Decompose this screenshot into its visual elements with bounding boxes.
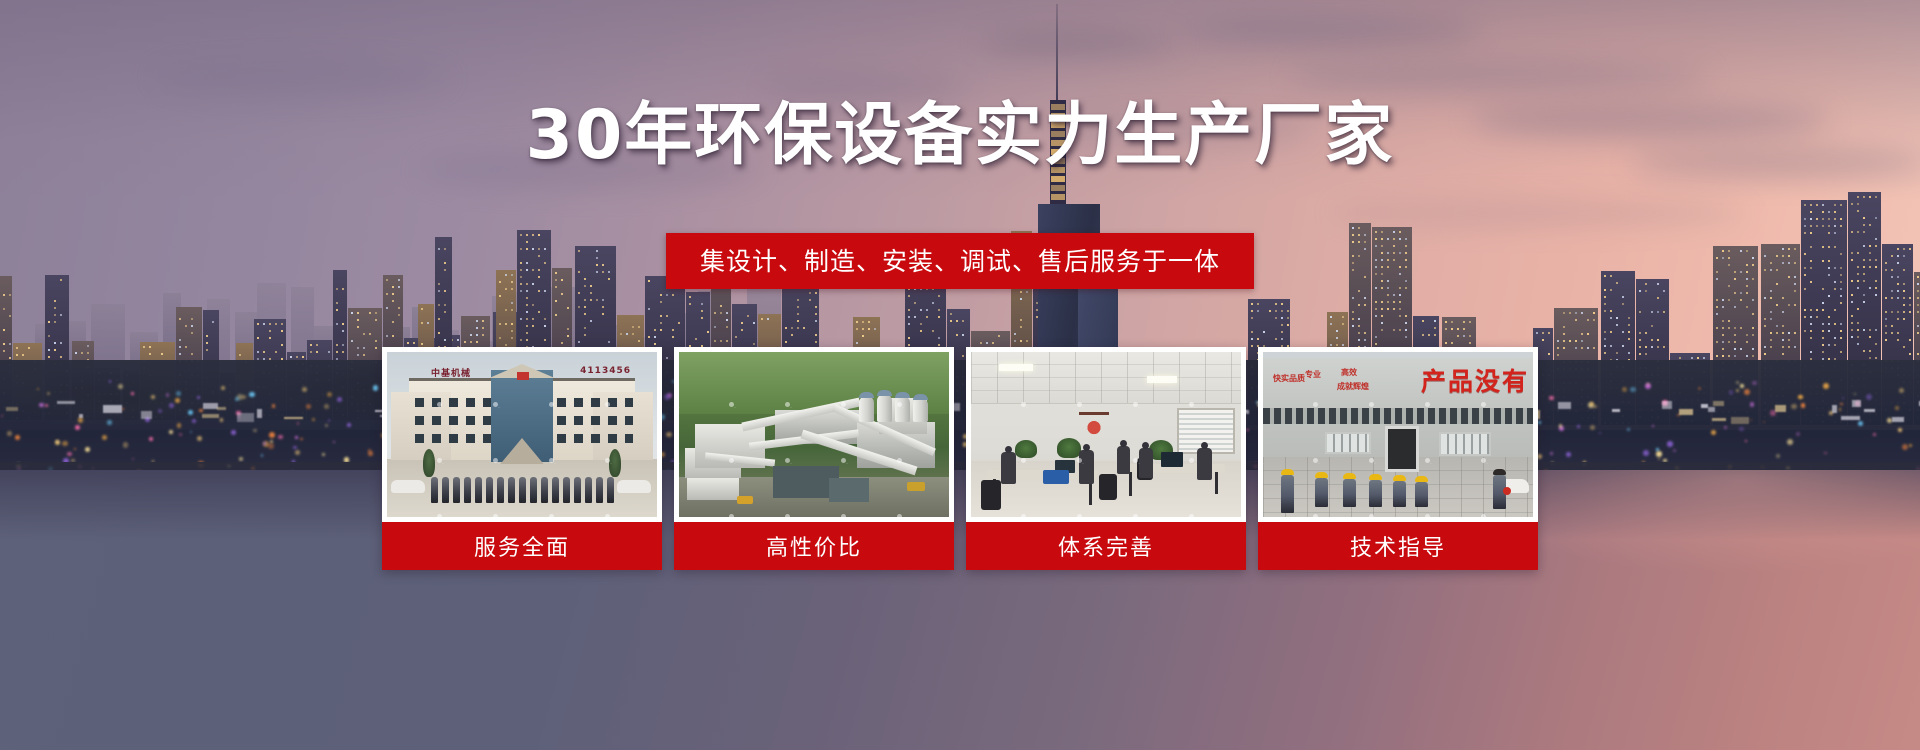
window-light bbox=[3, 343, 5, 345]
worker bbox=[1393, 475, 1406, 507]
riverside-building-light bbox=[79, 414, 83, 418]
window-light bbox=[1740, 250, 1742, 252]
window-light bbox=[438, 318, 440, 320]
window-light bbox=[1834, 204, 1836, 206]
window-light bbox=[48, 356, 50, 358]
park-light bbox=[1752, 381, 1757, 386]
crown-light-band bbox=[1051, 176, 1065, 182]
window-light bbox=[1651, 346, 1653, 348]
window-light bbox=[392, 335, 394, 337]
worker bbox=[1415, 476, 1428, 507]
park-light bbox=[37, 388, 39, 390]
window-light bbox=[1822, 309, 1824, 311]
window-light bbox=[1381, 238, 1383, 240]
window-light bbox=[1764, 318, 1766, 320]
window-light bbox=[1740, 292, 1742, 294]
window-light bbox=[1794, 304, 1796, 306]
window-light bbox=[499, 323, 501, 325]
window-light bbox=[1251, 331, 1253, 333]
window-light bbox=[1851, 315, 1853, 317]
window-light bbox=[726, 319, 728, 321]
card-photo-workers-factory: 产品没有 快实品质 专业 高效 成就辉煌 bbox=[1263, 352, 1533, 517]
window-light bbox=[1840, 323, 1842, 325]
window-light bbox=[1770, 269, 1772, 271]
window-light bbox=[1822, 260, 1824, 262]
worker bbox=[1315, 472, 1328, 507]
window-light bbox=[785, 341, 787, 343]
window-light bbox=[797, 327, 799, 329]
window-light bbox=[511, 337, 513, 339]
park-light bbox=[1909, 444, 1912, 447]
window-light bbox=[60, 314, 62, 316]
window-light bbox=[1405, 238, 1407, 240]
window-light bbox=[1810, 351, 1812, 353]
window-light bbox=[1863, 217, 1865, 219]
park-light bbox=[328, 419, 331, 422]
park-light bbox=[1622, 387, 1627, 392]
park-light bbox=[1842, 397, 1844, 399]
window-light bbox=[1804, 288, 1806, 290]
window-light bbox=[1622, 331, 1624, 333]
window-light bbox=[1840, 225, 1842, 227]
window-light bbox=[342, 330, 344, 332]
window-light bbox=[1869, 329, 1871, 331]
window-light bbox=[914, 302, 916, 304]
window-light bbox=[1822, 288, 1824, 290]
park-light bbox=[322, 453, 325, 456]
park-light bbox=[1590, 425, 1595, 430]
card-caption: 服务全面 bbox=[382, 522, 662, 570]
window-light bbox=[1804, 267, 1806, 269]
window-light bbox=[191, 318, 193, 320]
window-light bbox=[357, 312, 359, 314]
window-light bbox=[1885, 297, 1887, 299]
window-light bbox=[1358, 241, 1360, 243]
park-light bbox=[261, 454, 264, 457]
window-light bbox=[908, 316, 910, 318]
window-light bbox=[1387, 287, 1389, 289]
window-light bbox=[1788, 346, 1790, 348]
window-light bbox=[386, 335, 388, 337]
window-row bbox=[415, 398, 491, 407]
window-light bbox=[720, 340, 722, 342]
park-light bbox=[324, 404, 329, 409]
window-light bbox=[1275, 303, 1277, 305]
window-light bbox=[179, 353, 181, 355]
window-light bbox=[392, 300, 394, 302]
window-light bbox=[544, 262, 546, 264]
window-light bbox=[398, 307, 400, 309]
window-light bbox=[714, 340, 716, 342]
park-light bbox=[62, 441, 67, 446]
feature-card[interactable]: 体系完善 bbox=[966, 347, 1246, 570]
window-light bbox=[1381, 287, 1383, 289]
window-light bbox=[1822, 204, 1824, 206]
card-photo-office-interior bbox=[971, 352, 1241, 517]
window-light bbox=[1581, 312, 1583, 314]
window-light bbox=[398, 286, 400, 288]
window-light bbox=[1393, 294, 1395, 296]
window-light bbox=[1828, 344, 1830, 346]
window-light bbox=[992, 342, 994, 344]
window-light bbox=[1752, 355, 1754, 357]
window-light bbox=[1770, 339, 1772, 341]
park-light bbox=[118, 384, 123, 389]
window-light bbox=[1722, 334, 1724, 336]
window-light bbox=[1903, 255, 1905, 257]
card-photo-industrial-plant bbox=[679, 352, 949, 517]
window-light bbox=[1639, 332, 1641, 334]
window-light bbox=[1746, 278, 1748, 280]
window-light bbox=[602, 271, 604, 273]
window-light bbox=[1917, 276, 1919, 278]
window-light bbox=[1610, 275, 1612, 277]
window-light bbox=[1897, 276, 1899, 278]
window-light bbox=[596, 264, 598, 266]
window-light bbox=[1863, 231, 1865, 233]
window-light bbox=[1851, 280, 1853, 282]
worker-body bbox=[1393, 481, 1406, 507]
window-light bbox=[1810, 225, 1812, 227]
window-light bbox=[1794, 276, 1796, 278]
staff-member bbox=[607, 477, 614, 503]
window-light bbox=[1616, 317, 1618, 319]
employee bbox=[1001, 452, 1016, 484]
window-light bbox=[1851, 322, 1853, 324]
window-light bbox=[1716, 355, 1718, 357]
park-light bbox=[1, 415, 3, 417]
window-light bbox=[1375, 259, 1377, 261]
employee-head bbox=[1142, 442, 1149, 449]
window-light bbox=[1375, 315, 1377, 317]
window-light bbox=[1716, 271, 1718, 273]
window-light bbox=[1728, 355, 1730, 357]
window-light bbox=[914, 316, 916, 318]
window-light bbox=[526, 311, 528, 313]
riverside-building-light bbox=[1712, 418, 1726, 421]
window-light bbox=[1822, 337, 1824, 339]
window-light bbox=[1875, 287, 1877, 289]
staff-member bbox=[464, 477, 471, 503]
window-light bbox=[532, 283, 534, 285]
window-light bbox=[920, 323, 922, 325]
window-light bbox=[191, 325, 193, 327]
window-light bbox=[1875, 329, 1877, 331]
factory-window bbox=[1439, 432, 1491, 456]
window-light bbox=[407, 342, 409, 344]
window-light bbox=[239, 354, 241, 356]
window-light bbox=[1794, 346, 1796, 348]
window-light bbox=[1875, 238, 1877, 240]
window-light bbox=[1610, 317, 1612, 319]
window-light bbox=[1657, 339, 1659, 341]
park-light bbox=[1866, 394, 1872, 400]
park-light bbox=[368, 451, 372, 455]
window-light bbox=[1393, 301, 1395, 303]
window-light bbox=[555, 300, 557, 302]
window-light bbox=[438, 248, 440, 250]
window-light bbox=[1381, 273, 1383, 275]
feature-card[interactable]: 产品没有 快实品质 专业 高效 成就辉煌 技术指导 bbox=[1258, 347, 1538, 570]
office-chair bbox=[1099, 474, 1117, 500]
window-light bbox=[1851, 329, 1853, 331]
window-light bbox=[1364, 339, 1366, 341]
window-light bbox=[1381, 266, 1383, 268]
window-light bbox=[1834, 232, 1836, 234]
window-light bbox=[638, 340, 640, 342]
employee bbox=[1139, 448, 1153, 478]
park-light bbox=[242, 395, 246, 399]
riverside-building-light bbox=[1841, 416, 1860, 420]
window-light bbox=[532, 304, 534, 306]
window-light bbox=[1434, 327, 1436, 329]
window-light bbox=[54, 349, 56, 351]
window-row bbox=[415, 416, 491, 425]
park-light bbox=[1839, 408, 1842, 411]
worker-body bbox=[1315, 478, 1328, 507]
window-light bbox=[1581, 347, 1583, 349]
window-light bbox=[1287, 317, 1289, 319]
window-light bbox=[1663, 290, 1665, 292]
park-light bbox=[39, 403, 43, 407]
window-light bbox=[797, 313, 799, 315]
window-light bbox=[1863, 259, 1865, 261]
window-light bbox=[1557, 347, 1559, 349]
window-light bbox=[1885, 339, 1887, 341]
park-light bbox=[1899, 388, 1904, 393]
window-light bbox=[1816, 218, 1818, 220]
window-light bbox=[602, 264, 604, 266]
window-light bbox=[1352, 269, 1354, 271]
window-light bbox=[54, 321, 56, 323]
window-light bbox=[1399, 238, 1401, 240]
feature-card[interactable]: 中基机械 4113456 服务全面 bbox=[382, 347, 662, 570]
window-light bbox=[1788, 248, 1790, 250]
window-light bbox=[803, 327, 805, 329]
window-light bbox=[1257, 310, 1259, 312]
window-light bbox=[1381, 322, 1383, 324]
window-light bbox=[544, 339, 546, 341]
window-light bbox=[1863, 245, 1865, 247]
window-light bbox=[1422, 320, 1424, 322]
window-light bbox=[1752, 327, 1754, 329]
window-light bbox=[1740, 299, 1742, 301]
park-light bbox=[1895, 406, 1899, 410]
window-light bbox=[1604, 338, 1606, 340]
window-light bbox=[555, 272, 557, 274]
window-light bbox=[1897, 248, 1899, 250]
window-light bbox=[998, 335, 1000, 337]
park-light bbox=[1729, 390, 1733, 394]
window-light bbox=[1651, 325, 1653, 327]
window-light bbox=[1875, 266, 1877, 268]
office-ceiling bbox=[971, 352, 1241, 404]
potted-plant bbox=[1015, 440, 1037, 458]
window-light bbox=[1863, 350, 1865, 352]
employee-head bbox=[1083, 444, 1090, 451]
window-light bbox=[815, 306, 817, 308]
silo bbox=[913, 398, 928, 422]
window-light bbox=[1622, 296, 1624, 298]
staff-member bbox=[585, 477, 592, 503]
hero-banner: 30年环保设备实力生产厂家 集设计、制造、安装、调试、售后服务于一体 中基机械 … bbox=[0, 0, 1920, 750]
window-light bbox=[555, 286, 557, 288]
factory-slogan: 成就辉煌 bbox=[1337, 382, 1369, 391]
window-light bbox=[1336, 337, 1338, 339]
window-light bbox=[797, 299, 799, 301]
window-light bbox=[191, 353, 193, 355]
window-light bbox=[1891, 269, 1893, 271]
window-light bbox=[538, 255, 540, 257]
window-light bbox=[532, 318, 534, 320]
park-light bbox=[1736, 389, 1739, 392]
window-light bbox=[638, 326, 640, 328]
window-light bbox=[1804, 204, 1806, 206]
window-light bbox=[1251, 338, 1253, 340]
window-light bbox=[578, 292, 580, 294]
park-light bbox=[1744, 389, 1750, 395]
window-light bbox=[1810, 218, 1812, 220]
window-light bbox=[520, 339, 522, 341]
window-light bbox=[1828, 323, 1830, 325]
window-light bbox=[1816, 225, 1818, 227]
window-light bbox=[520, 276, 522, 278]
window-light bbox=[520, 318, 522, 320]
window-light bbox=[1863, 266, 1865, 268]
window-light bbox=[584, 334, 586, 336]
park-light bbox=[1873, 433, 1876, 436]
window-light bbox=[1782, 339, 1784, 341]
window-light bbox=[1639, 311, 1641, 313]
park-light bbox=[295, 450, 300, 455]
window-light bbox=[1740, 348, 1742, 350]
window-light bbox=[1336, 344, 1338, 346]
park-light bbox=[192, 419, 196, 423]
riverside-building-light bbox=[1892, 417, 1904, 422]
silo-cap bbox=[913, 394, 928, 400]
window-light bbox=[1716, 278, 1718, 280]
window-light bbox=[538, 248, 540, 250]
window-light bbox=[1628, 352, 1630, 354]
window-light bbox=[1840, 274, 1842, 276]
park-light bbox=[1739, 427, 1744, 432]
window-light bbox=[584, 306, 586, 308]
window-light bbox=[532, 269, 534, 271]
window-light bbox=[1358, 234, 1360, 236]
window-light bbox=[1381, 245, 1383, 247]
window-light bbox=[1840, 330, 1842, 332]
window-light bbox=[1891, 297, 1893, 299]
park-light bbox=[122, 408, 124, 410]
window-light bbox=[281, 344, 283, 346]
window-light bbox=[1020, 319, 1022, 321]
window-light bbox=[1752, 299, 1754, 301]
window-light bbox=[538, 234, 540, 236]
staff-member bbox=[475, 477, 482, 503]
window-light bbox=[1358, 304, 1360, 306]
window-light bbox=[596, 257, 598, 259]
window-light bbox=[520, 283, 522, 285]
riverside-building-light bbox=[1612, 409, 1619, 413]
feature-card[interactable]: 高性价比 bbox=[674, 347, 954, 570]
window-light bbox=[1834, 337, 1836, 339]
tree bbox=[423, 449, 435, 477]
window-light bbox=[561, 293, 563, 295]
window-light bbox=[60, 356, 62, 358]
window-light bbox=[632, 326, 634, 328]
window-light bbox=[908, 344, 910, 346]
window-light bbox=[269, 323, 271, 325]
window-light bbox=[1840, 267, 1842, 269]
window-light bbox=[1903, 283, 1905, 285]
window-light bbox=[538, 311, 540, 313]
park-light bbox=[1745, 440, 1747, 442]
park-light bbox=[1796, 432, 1800, 436]
window-light bbox=[1828, 274, 1830, 276]
window-light bbox=[1610, 310, 1612, 312]
park-light bbox=[45, 404, 47, 406]
card-caption: 体系完善 bbox=[966, 522, 1246, 570]
park-light bbox=[302, 387, 307, 392]
window-light bbox=[1810, 267, 1812, 269]
window-light bbox=[1869, 336, 1871, 338]
window-light bbox=[1897, 290, 1899, 292]
window-light bbox=[1628, 331, 1630, 333]
window-light bbox=[1782, 248, 1784, 250]
window-light bbox=[386, 293, 388, 295]
park-light bbox=[47, 392, 50, 395]
tower-spire bbox=[1056, 4, 1058, 104]
park-light bbox=[109, 380, 111, 382]
park-light bbox=[132, 458, 135, 461]
window-light bbox=[511, 281, 513, 283]
window-light bbox=[1746, 250, 1748, 252]
factory-slogan: 快实品质 bbox=[1273, 374, 1305, 383]
window-light bbox=[1399, 287, 1401, 289]
window-light bbox=[1903, 318, 1905, 320]
window-light bbox=[310, 344, 312, 346]
window-light bbox=[1810, 204, 1812, 206]
window-light bbox=[1364, 297, 1366, 299]
window-light bbox=[1257, 338, 1259, 340]
window-light bbox=[1722, 257, 1724, 259]
window-light bbox=[1387, 308, 1389, 310]
window-light bbox=[672, 294, 674, 296]
window-light bbox=[1734, 327, 1736, 329]
desk-leg bbox=[1215, 472, 1218, 494]
window-light bbox=[1828, 267, 1830, 269]
window-light bbox=[701, 303, 703, 305]
worker bbox=[1343, 473, 1356, 507]
window-light bbox=[632, 333, 634, 335]
employee-head bbox=[1005, 446, 1012, 453]
window-light bbox=[1897, 332, 1899, 334]
window-light bbox=[526, 325, 528, 327]
window-light bbox=[1587, 319, 1589, 321]
window-light bbox=[578, 250, 580, 252]
worker-body bbox=[1281, 475, 1294, 513]
window-light bbox=[438, 304, 440, 306]
window-light bbox=[1728, 285, 1730, 287]
window-light bbox=[809, 292, 811, 294]
window-light bbox=[336, 344, 338, 346]
window-light bbox=[926, 316, 928, 318]
window-light bbox=[75, 352, 77, 354]
park-light bbox=[188, 410, 193, 415]
window-light bbox=[1794, 283, 1796, 285]
window-light bbox=[1885, 262, 1887, 264]
window-light bbox=[1342, 344, 1344, 346]
